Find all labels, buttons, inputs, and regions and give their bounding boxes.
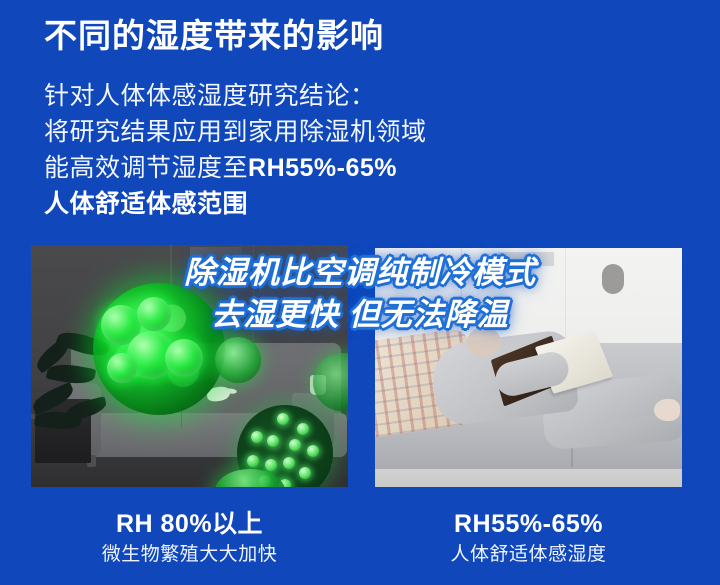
virus-spike [283,457,295,469]
page-title: 不同的湿度带来的影响 [44,16,384,56]
virus-spike [277,413,289,425]
virus-spike [265,459,277,471]
intro-line-3: 能高效调节湿度至RH55%-65% [44,150,427,186]
intro-line-3-prefix: 能高效调节湿度至 [44,154,248,182]
virus-spike [247,455,259,467]
photo-panel-high-humidity [31,245,348,487]
virus-spike [289,439,301,451]
intro-line-2: 将研究结果应用到家用除湿机领域 [44,114,427,150]
intro-line-4: 人体舒适体感范围 [44,186,427,222]
intro-paragraph: 针对人体体感湿度研究结论： 将研究结果应用到家用除湿机领域 能高效调节湿度至RH… [44,78,427,222]
microbe-icon [215,337,261,383]
person-foot [654,399,680,421]
intro-line-3-value: RH55%-65% [248,154,397,182]
virus-spike [307,445,319,457]
humidity-infographic-poster: 不同的湿度带来的影响 针对人体体感湿度研究结论： 将研究结果应用到家用除湿机领域… [0,0,720,585]
caption-sub-text: 微生物繁殖大大加快 [31,540,348,570]
caption-high-humidity: RH 80%以上 微生物繁殖大大加快 [31,508,348,570]
microbe-blob [107,353,137,383]
caption-sub-text: 人体舒适体感湿度 [375,540,682,570]
virus-spike [297,423,309,435]
microbe-blob [165,339,203,377]
photo-panel-comfort-humidity [375,248,682,487]
virus-spike [251,431,263,443]
wall-art [190,247,242,273]
microbe-blob [137,297,171,331]
intro-line-1: 针对人体体感湿度研究结论： [44,78,427,114]
person-head [467,327,501,357]
caption-main-text: RH55%-65% [375,508,682,540]
wall-speaker-icon [602,264,624,294]
virus-spike [299,467,311,479]
wall-art [498,252,554,266]
microbe-cluster-icon [93,283,225,415]
caption-main-text: RH 80%以上 [31,508,348,540]
wall-seam-secondary [565,248,566,344]
caption-comfort-humidity: RH55%-65% 人体舒适体感湿度 [375,508,682,570]
virus-spike [267,435,279,447]
